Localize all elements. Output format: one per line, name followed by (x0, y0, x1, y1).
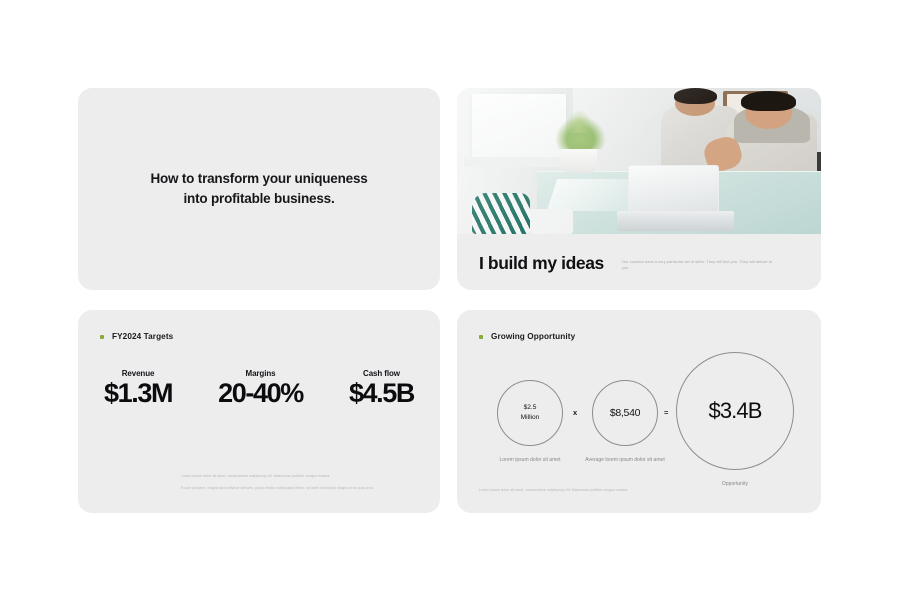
opportunity-fineprint: Lorem ipsum dolor sit amet, consectetuer… (479, 487, 689, 493)
opportunity-card: Growing Opportunity $2.5 Million x $8,54… (457, 310, 821, 513)
ideas-card: I build my ideas Our couriers have a ver… (457, 88, 821, 290)
equals-operator: = (664, 408, 668, 417)
slide-canvas: How to transform your uniqueness into pr… (0, 0, 900, 600)
stat-cashflow-label: Cash flow (349, 369, 414, 378)
stat-revenue: Revenue $1.3M (104, 369, 172, 407)
stat-cashflow-value: $4.5B (349, 380, 414, 407)
targets-eyebrow-label: FY2024 Targets (112, 332, 173, 341)
opportunity-circle-b-value: $8,540 (610, 407, 640, 419)
photo-light-haze (457, 88, 821, 234)
stat-revenue-label: Revenue (104, 369, 172, 378)
opportunity-eyebrow-label: Growing Opportunity (491, 332, 575, 341)
stat-cashflow: Cash flow $4.5B (349, 369, 414, 407)
stat-margins-label: Margins (218, 369, 303, 378)
headline-line-1: How to transform your uniqueness (150, 171, 367, 186)
stat-revenue-value: $1.3M (104, 380, 172, 407)
opportunity-circle-a-label: Lorem ipsum dolor sit amet (483, 456, 577, 464)
opportunity-circle-c: $3.4B (676, 352, 794, 470)
headline-line-2: into profitable business. (183, 191, 334, 206)
opportunity-circle-a-value: $2.5 Million (521, 403, 540, 422)
opportunity-circle-c-value: $3.4B (709, 398, 762, 424)
team-photo (457, 88, 821, 234)
ideas-note: Our couriers have a very particular set … (622, 259, 774, 272)
opportunity-eyebrow: Growing Opportunity (457, 310, 821, 341)
headline-wrapper: How to transform your uniqueness into pr… (78, 88, 440, 290)
targets-fineprint-line-2: Fusce posuere, magna sed pulvinar ultric… (181, 485, 414, 491)
opportunity-circle-b: $8,540 (592, 380, 658, 446)
ideas-caption-row: I build my ideas Our couriers have a ver… (457, 234, 821, 273)
bullet-dot-icon (479, 335, 483, 339)
targets-stats-row: Revenue $1.3M Margins 20-40% Cash flow $… (78, 341, 440, 407)
opportunity-circle-c-label: Opportunity (688, 480, 782, 488)
stat-margins-value: 20-40% (218, 380, 303, 407)
opportunity-circle-a-value-line-2: Million (521, 414, 540, 421)
opportunity-circle-a: $2.5 Million (497, 380, 563, 446)
stat-margins: Margins 20-40% (218, 369, 303, 407)
page-title: How to transform your uniqueness into pr… (150, 169, 367, 208)
bullet-dot-icon (100, 335, 104, 339)
ideas-title: I build my ideas (479, 254, 604, 273)
targets-fineprint-line-1: Lorem ipsum dolor sit amet, consectetuer… (181, 473, 414, 479)
multiply-operator: x (573, 408, 577, 417)
opportunity-circle-a-value-line-1: $2.5 (524, 404, 537, 411)
opportunity-diagram: $2.5 Million x $8,540 = $3.4B Lorem ipsu… (457, 352, 821, 502)
targets-eyebrow: FY2024 Targets (78, 310, 440, 341)
targets-card: FY2024 Targets Revenue $1.3M Margins 20-… (78, 310, 440, 513)
headline-card: How to transform your uniqueness into pr… (78, 88, 440, 290)
opportunity-circle-b-label: Average lorem ipsum dolor sit amet (578, 456, 672, 464)
targets-fineprint: Lorem ipsum dolor sit amet, consectetuer… (181, 473, 414, 491)
